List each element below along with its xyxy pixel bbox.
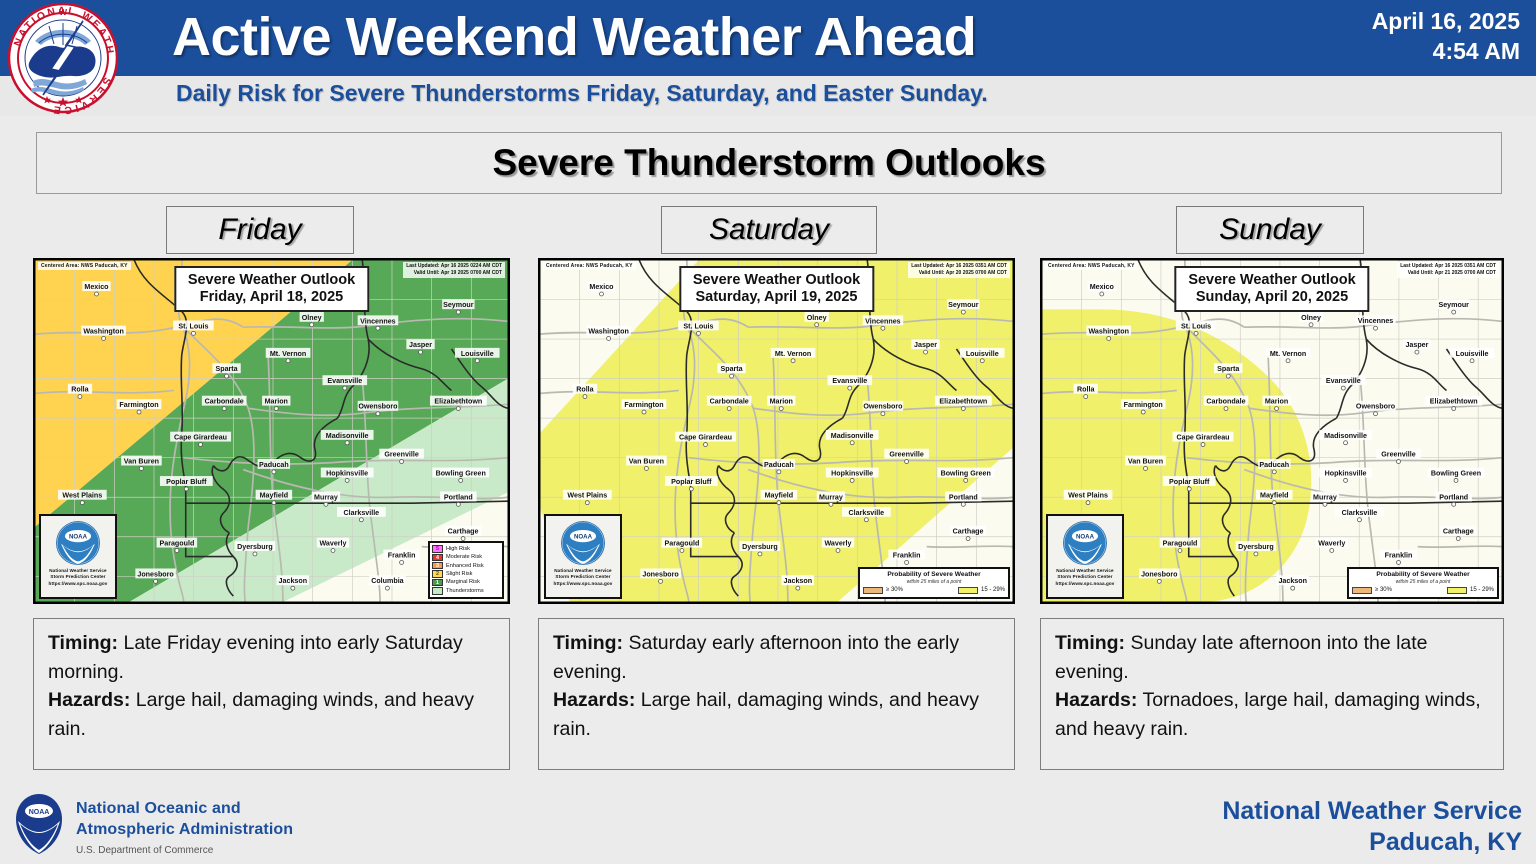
map-city-label: Mayfield xyxy=(260,492,288,500)
timing-line: Timing: Sunday late afternoon into the l… xyxy=(1055,629,1491,686)
map-city-label: Madisonville xyxy=(831,432,874,440)
map-city-label: Rolla xyxy=(71,386,88,394)
outlook-panel-sunday: MexicoWashingtonSt. LouisOlneyVincennesS… xyxy=(1040,258,1504,604)
map-city-dot xyxy=(78,395,82,399)
map-update-info: Last Updated: Apr 16 2025 0224 AM CDT Va… xyxy=(403,262,505,278)
map-city-dot xyxy=(848,386,852,390)
map-city-dot xyxy=(137,410,141,414)
map-city-dot xyxy=(924,350,928,354)
risk-legend-swatch: 5 xyxy=(432,545,443,552)
map-city-label: Paragould xyxy=(159,540,194,548)
map-city-dot xyxy=(286,359,290,363)
map-city-label: Louisville xyxy=(461,350,494,358)
map-city-dot xyxy=(1254,552,1258,556)
map-city-dot xyxy=(1178,549,1182,553)
map-city-dot xyxy=(272,470,276,474)
svg-text:NOAA: NOAA xyxy=(574,533,593,540)
map-city-label: Waverly xyxy=(319,540,346,548)
section-title-box: Severe Thunderstorm Outlooks xyxy=(36,132,1502,194)
map-city-dot xyxy=(1107,337,1111,341)
risk-legend-swatch: 4 xyxy=(432,554,443,561)
risk-legend-row: 1Marginal Risk xyxy=(432,578,500,586)
map-city-dot xyxy=(758,552,762,556)
map-city-dot xyxy=(102,337,106,341)
map-city-dot xyxy=(850,441,854,445)
map-title-box: Severe Weather Outlook Sunday, April 20,… xyxy=(1174,266,1369,312)
map-city-dot xyxy=(1201,443,1205,447)
map-city-label: Murray xyxy=(819,493,843,501)
map-city-dot xyxy=(727,407,731,411)
map-city-label: Evansville xyxy=(1326,377,1361,385)
timing-label: Timing: xyxy=(1055,632,1125,654)
map-city-dot xyxy=(1291,586,1295,590)
map-city-label: Washington xyxy=(83,328,123,336)
map-city-dot xyxy=(139,466,143,470)
map-city-label: Jonesboro xyxy=(1141,570,1178,578)
map-city-dot xyxy=(850,478,854,482)
map-city-label: Greenville xyxy=(889,451,923,459)
map-city-label: Olney xyxy=(807,314,827,322)
map-city-dot xyxy=(400,560,404,564)
map-city-label: Van Buren xyxy=(124,458,159,466)
map-city-label: Washington xyxy=(1088,328,1128,336)
footer-line1: National Oceanic and xyxy=(76,798,293,819)
hazards-line: Hazards: Large hail, damaging winds, and… xyxy=(553,686,1002,743)
risk-legend-label: Slight Risk xyxy=(446,571,472,577)
map-city-label: St. Louis xyxy=(1181,322,1211,330)
day-tab-saturday[interactable]: Saturday xyxy=(661,206,877,254)
map-city-dot xyxy=(1144,466,1148,470)
map-city-dot xyxy=(1141,410,1145,414)
map-city-dot xyxy=(1194,331,1198,335)
map-city-label: Franklin xyxy=(388,552,416,560)
probability-legend-label: ≥ 30% xyxy=(886,587,903,593)
hazards-label: Hazards: xyxy=(553,689,635,711)
map-city-label: Jasper xyxy=(409,341,432,349)
footer-noaa-text: National Oceanic and Atmospheric Adminis… xyxy=(76,798,293,859)
noaa-credit-line2: Storm Prediction Center xyxy=(49,574,108,580)
map-city-label: Dyersburg xyxy=(1238,543,1274,551)
nws-seal-icon: W NATIONAL WEATHER SERVICE xyxy=(5,1,121,115)
map-valid-until: Valid Until: Apr 19 2025 0700 AM CDT xyxy=(406,270,502,277)
map-city-dot xyxy=(961,310,965,314)
map-city-dot xyxy=(1323,502,1327,506)
map-city-label: Hopkinsville xyxy=(831,469,873,477)
map-city-label: Paducah xyxy=(259,461,289,469)
noaa-logo-icon: NOAA xyxy=(10,793,68,855)
map-city-label: Owensboro xyxy=(358,403,398,411)
map-city-dot xyxy=(222,407,226,411)
hazards-line: Hazards: Large hail, damaging winds, and… xyxy=(48,686,497,743)
map-city-dot xyxy=(881,412,885,416)
header-time: 4:54 AM xyxy=(1260,36,1520,66)
probability-legend-swatch xyxy=(958,587,978,595)
map-city-label: Elizabethtown xyxy=(1430,398,1478,406)
map-city-label: Washington xyxy=(588,328,628,336)
header-date: April 16, 2025 xyxy=(1260,6,1520,36)
map-city-label: Jackson xyxy=(784,577,813,585)
map-city-label: West Plains xyxy=(567,492,607,500)
map-city-dot xyxy=(796,586,800,590)
map-city-dot xyxy=(1272,470,1276,474)
map-city-label: Vincennes xyxy=(1358,317,1394,325)
map-city-dot xyxy=(864,518,868,522)
map-city-label: Portland xyxy=(949,493,978,501)
map-city-label: Cape Girardeau xyxy=(174,434,227,442)
map-city-dot xyxy=(961,502,965,506)
info-box-friday: Timing: Late Friday evening into early S… xyxy=(33,618,510,770)
map-city-label: Louisville xyxy=(1456,350,1489,358)
timing-line: Timing: Late Friday evening into early S… xyxy=(48,629,497,686)
noaa-logo-icon: NOAA xyxy=(560,520,606,566)
map-city-label: Poplar Bluff xyxy=(671,478,712,486)
map-city-label: Farmington xyxy=(119,401,158,409)
map-city-label: Jackson xyxy=(1278,577,1307,585)
map-city-label: Sparta xyxy=(215,365,237,373)
map-city-dot xyxy=(1157,579,1161,583)
map-city-label: Madisonville xyxy=(1324,432,1367,440)
map-city-dot xyxy=(791,359,795,363)
map-city-dot xyxy=(1224,407,1228,411)
risk-legend-row: 2Slight Risk xyxy=(432,570,500,578)
map-city-dot xyxy=(199,443,203,447)
map-city-label: Bowling Green xyxy=(941,469,991,477)
footer-line3: U.S. Department of Commerce xyxy=(76,843,293,859)
map-city-label: Carbondale xyxy=(710,398,749,406)
map-city-dot xyxy=(1286,359,1290,363)
map-city-label: Jonesboro xyxy=(137,570,174,578)
map-city-dot xyxy=(1452,310,1456,314)
map-valid-until: Valid Until: Apr 21 2025 0700 AM CDT xyxy=(1400,270,1496,277)
map-city-dot xyxy=(696,331,700,335)
map-city-dot xyxy=(80,501,84,505)
risk-legend-label: Marginal Risk xyxy=(446,579,480,585)
map-city-label: Evansville xyxy=(832,377,867,385)
map-city-dot xyxy=(456,310,460,314)
probability-legend-swatch xyxy=(1447,587,1467,595)
risk-legend-row: 4Moderate Risk xyxy=(432,553,500,561)
map-city-dot xyxy=(1454,478,1458,482)
map-city-dot xyxy=(385,586,389,590)
risk-legend-row: 3Enhanced Risk xyxy=(432,561,500,569)
map-update-info: Last Updated: Apr 16 2025 0351 AM CDT Va… xyxy=(1397,262,1499,278)
map-city-label: Rolla xyxy=(1077,386,1094,394)
map-city-label: Carbondale xyxy=(205,398,244,406)
outlook-map-sunday[interactable]: MexicoWashingtonSt. LouisOlneyVincennesS… xyxy=(1040,258,1504,604)
map-city-dot xyxy=(184,487,188,491)
map-city-label: Paragould xyxy=(1163,540,1198,548)
map-city-dot xyxy=(456,407,460,411)
footer-line2: Atmospheric Administration xyxy=(76,819,293,840)
map-city-label: Owensboro xyxy=(863,403,903,411)
map-city-label: Poplar Bluff xyxy=(166,478,207,486)
outlook-panel-friday: MexicoWashingtonSt. LouisOlneyVincennesS… xyxy=(33,258,510,604)
map-city-dot xyxy=(1275,407,1279,411)
info-box-saturday: Timing: Saturday early afternoon into th… xyxy=(538,618,1015,770)
risk-legend-row: Thunderstorms xyxy=(432,587,500,595)
map-city-label: Van Buren xyxy=(1128,458,1163,466)
map-city-dot xyxy=(599,292,603,296)
hazards-label: Hazards: xyxy=(1055,689,1137,711)
probability-legend-item: 15 - 29% xyxy=(958,587,1005,595)
footer-office-name: National Weather Service xyxy=(1222,796,1522,827)
map-city-label: Seymour xyxy=(948,301,979,309)
page-subtitle: Daily Risk for Severe Thunderstorms Frid… xyxy=(176,80,988,107)
map-city-label: Olney xyxy=(1301,314,1321,322)
map-city-label: Murray xyxy=(314,493,338,501)
map-city-label: Cape Girardeau xyxy=(1176,434,1229,442)
map-city-label: Cape Girardeau xyxy=(679,434,732,442)
map-city-dot xyxy=(154,579,158,583)
map-city-label: Mayfield xyxy=(1260,492,1288,500)
probability-legend-item: ≥ 30% xyxy=(1352,587,1392,595)
map-city-label: Farmington xyxy=(1124,401,1163,409)
risk-legend-swatch xyxy=(432,587,443,594)
map-city-label: Portland xyxy=(1439,493,1468,501)
risk-legend-label: Thunderstorms xyxy=(446,588,484,594)
map-city-label: St. Louis xyxy=(683,322,713,330)
svg-text:NOAA: NOAA xyxy=(69,533,88,540)
map-city-label: Franklin xyxy=(893,552,921,560)
map-city-dot xyxy=(659,579,663,583)
map-city-dot xyxy=(1357,518,1361,522)
risk-legend-swatch: 3 xyxy=(432,562,443,569)
map-city-dot xyxy=(272,501,276,505)
map-city-label: Waverly xyxy=(824,540,851,548)
footer-office-location: Paducah, KY xyxy=(1222,827,1522,858)
map-city-label: Jonesboro xyxy=(642,570,679,578)
map-last-updated: Last Updated: Apr 16 2025 0224 AM CDT xyxy=(406,263,502,270)
map-city-dot xyxy=(1452,407,1456,411)
page-title: Active Weekend Weather Ahead xyxy=(172,6,976,68)
risk-legend-swatch: 1 xyxy=(432,579,443,586)
map-city-label: Mt. Vernon xyxy=(1270,350,1306,358)
day-tab-sunday[interactable]: Sunday xyxy=(1176,206,1364,254)
risk-legend-row: 5High Risk xyxy=(432,545,500,553)
map-city-label: Sparta xyxy=(1217,365,1239,373)
map-city-dot xyxy=(644,466,648,470)
map-city-label: Carbondale xyxy=(1206,398,1245,406)
timing-line: Timing: Saturday early afternoon into th… xyxy=(553,629,1002,686)
risk-legend-swatch: 2 xyxy=(432,570,443,577)
map-city-label: Louisville xyxy=(966,350,999,358)
map-city-dot xyxy=(1309,323,1313,327)
map-city-dot xyxy=(359,518,363,522)
probability-legend-subtitle: within 25 miles of a point xyxy=(863,579,1005,586)
map-city-dot xyxy=(475,359,479,363)
map-title-box: Severe Weather Outlook Saturday, April 1… xyxy=(679,266,874,312)
map-city-label: Farmington xyxy=(624,401,663,409)
map-city-label: Carthage xyxy=(448,528,479,536)
noaa-spc-credit-box: NOAA National Weather Service Storm Pred… xyxy=(1046,514,1124,599)
svg-text:NOAA: NOAA xyxy=(1076,533,1095,540)
noaa-spc-credit-box: NOAA National Weather Service Storm Pred… xyxy=(39,514,117,599)
risk-legend-label: Moderate Risk xyxy=(446,554,482,560)
map-city-dot xyxy=(1374,326,1378,330)
map-city-label: Sparta xyxy=(720,365,742,373)
map-city-dot xyxy=(1086,501,1090,505)
probability-legend-title: Probability of Severe Weather xyxy=(1352,571,1494,579)
map-city-dot xyxy=(1415,350,1419,354)
probability-legend-item: 15 - 29% xyxy=(1447,587,1494,595)
map-title-line1: Severe Weather Outlook xyxy=(188,272,355,289)
noaa-logo-icon: NOAA xyxy=(55,520,101,566)
day-tab-friday[interactable]: Friday xyxy=(166,206,354,254)
map-last-updated: Last Updated: Apr 16 2025 0351 AM CDT xyxy=(911,263,1007,270)
map-city-dot xyxy=(829,502,833,506)
map-city-label: Clarksville xyxy=(344,509,380,517)
map-city-dot xyxy=(400,460,404,464)
map-city-dot xyxy=(777,470,781,474)
map-city-dot xyxy=(964,478,968,482)
hazards-label: Hazards: xyxy=(48,689,130,711)
map-city-dot xyxy=(310,323,314,327)
probability-legend-rows: ≥ 30%15 - 29% xyxy=(1352,587,1494,595)
map-city-dot xyxy=(191,331,195,335)
map-city-dot xyxy=(585,501,589,505)
day-tab-label: Saturday xyxy=(709,213,829,247)
map-city-label: Jasper xyxy=(1405,341,1428,349)
map-city-label: Marion xyxy=(770,398,793,406)
map-city-dot xyxy=(1344,441,1348,445)
map-city-label: Bowling Green xyxy=(1431,469,1481,477)
probability-legend-item: ≥ 30% xyxy=(863,587,903,595)
noaa-credit-line3: https://www.spc.noaa.gov xyxy=(1056,581,1115,587)
map-city-dot xyxy=(345,478,349,482)
timing-label: Timing: xyxy=(553,632,623,654)
map-city-dot xyxy=(1397,460,1401,464)
map-city-label: Van Buren xyxy=(629,458,664,466)
map-title-line1: Severe Weather Outlook xyxy=(693,272,860,289)
map-city-label: Vincennes xyxy=(865,317,901,325)
map-city-label: Marion xyxy=(1265,398,1288,406)
map-city-dot xyxy=(1344,478,1348,482)
map-city-dot xyxy=(1272,501,1276,505)
map-city-dot xyxy=(376,412,380,416)
map-city-dot xyxy=(1470,359,1474,363)
noaa-credit-line2: Storm Prediction Center xyxy=(554,574,613,580)
map-city-label: Jasper xyxy=(914,341,937,349)
map-city-dot xyxy=(1456,537,1460,541)
map-city-dot xyxy=(777,501,781,505)
noaa-spc-credit-box: NOAA National Weather Service Storm Pred… xyxy=(544,514,622,599)
map-city-dot xyxy=(331,549,335,553)
map-city-dot xyxy=(274,407,278,411)
map-city-label: Olney xyxy=(302,314,322,322)
map-city-label: St. Louis xyxy=(178,322,208,330)
day-tab-label: Sunday xyxy=(1219,213,1321,247)
categorical-risk-legend: 5High Risk4Moderate Risk3Enhanced Risk2S… xyxy=(428,541,504,599)
map-city-dot xyxy=(345,441,349,445)
probability-legend: Probability of Severe Weather within 25 … xyxy=(1347,567,1499,600)
risk-legend-label: Enhanced Risk xyxy=(446,563,484,569)
map-city-dot xyxy=(456,502,460,506)
probability-legend-swatch xyxy=(1352,587,1372,595)
map-city-label: Dyersburg xyxy=(237,543,273,551)
map-city-label: Hopkinsville xyxy=(1325,469,1367,477)
map-city-dot xyxy=(343,386,347,390)
map-city-label: Waverly xyxy=(1318,540,1345,548)
map-city-dot xyxy=(94,292,98,296)
map-city-dot xyxy=(253,552,257,556)
map-city-dot xyxy=(905,460,909,464)
map-title-line2: Saturday, April 19, 2025 xyxy=(693,289,860,306)
map-city-label: Vincennes xyxy=(360,317,396,325)
map-city-label: Evansville xyxy=(327,377,362,385)
map-city-label: Mexico xyxy=(589,283,614,291)
map-city-dot xyxy=(730,374,734,378)
probability-legend-rows: ≥ 30%15 - 29% xyxy=(863,587,1005,595)
map-city-dot xyxy=(980,359,984,363)
map-title-line1: Severe Weather Outlook xyxy=(1188,272,1355,289)
probability-legend-label: 15 - 29% xyxy=(1470,587,1494,593)
map-city-dot xyxy=(836,549,840,553)
map-city-dot xyxy=(779,407,783,411)
map-city-label: Greenville xyxy=(384,451,418,459)
map-city-label: Clarksville xyxy=(1342,509,1378,517)
map-city-dot xyxy=(905,560,909,564)
map-last-updated: Last Updated: Apr 16 2025 0351 AM CDT xyxy=(1400,263,1496,270)
map-city-label: Owensboro xyxy=(1356,403,1396,411)
map-city-dot xyxy=(966,537,970,541)
header-datetime: April 16, 2025 4:54 AM xyxy=(1260,6,1520,66)
map-city-label: Carthage xyxy=(1443,528,1474,536)
map-city-label: Poplar Bluff xyxy=(1169,478,1210,486)
map-centered-area: Centered Area: NWS Paducah, KY xyxy=(1045,262,1138,270)
outlook-map-saturday[interactable]: MexicoWashingtonSt. LouisOlneyVincennesS… xyxy=(538,258,1015,604)
map-city-label: Madisonville xyxy=(326,432,369,440)
map-city-dot xyxy=(815,323,819,327)
map-city-dot xyxy=(642,410,646,414)
hazards-line: Hazards: Tornadoes, large hail, damaging… xyxy=(1055,686,1491,743)
map-city-label: Greenville xyxy=(1381,451,1415,459)
outlook-panel-saturday: MexicoWashingtonSt. LouisOlneyVincennesS… xyxy=(538,258,1015,604)
map-title-line2: Friday, April 18, 2025 xyxy=(188,289,355,306)
map-city-label: Bowling Green xyxy=(436,469,486,477)
footer-office: National Weather Service Paducah, KY xyxy=(1222,796,1522,858)
map-city-label: Seymour xyxy=(1438,301,1469,309)
map-city-dot xyxy=(961,407,965,411)
map-city-dot xyxy=(225,374,229,378)
svg-text:NOAA: NOAA xyxy=(29,809,50,816)
outlook-map-friday[interactable]: MexicoWashingtonSt. LouisOlneyVincennesS… xyxy=(33,258,510,604)
map-city-label: Carthage xyxy=(953,528,984,536)
map-city-dot xyxy=(680,549,684,553)
map-city-dot xyxy=(704,443,708,447)
map-title-line2: Sunday, April 20, 2025 xyxy=(1188,289,1355,306)
probability-legend-label: 15 - 29% xyxy=(981,587,1005,593)
map-update-info: Last Updated: Apr 16 2025 0351 AM CDT Va… xyxy=(908,262,1010,278)
map-city-label: Paducah xyxy=(1259,461,1289,469)
map-city-dot xyxy=(459,478,463,482)
probability-legend: Probability of Severe Weather within 25 … xyxy=(858,567,1010,600)
noaa-logo-icon: NOAA xyxy=(1062,520,1108,566)
map-city-label: Clarksville xyxy=(849,509,885,517)
map-city-dot xyxy=(881,326,885,330)
day-tab-label: Friday xyxy=(218,213,301,247)
map-city-label: Mexico xyxy=(1090,283,1115,291)
map-city-label: Rolla xyxy=(576,386,593,394)
map-city-dot xyxy=(1084,395,1088,399)
risk-legend-label: High Risk xyxy=(446,546,470,552)
map-city-label: West Plains xyxy=(62,492,102,500)
noaa-credit-line2: Storm Prediction Center xyxy=(1056,574,1115,580)
map-centered-area: Centered Area: NWS Paducah, KY xyxy=(543,262,636,270)
map-city-dot xyxy=(1226,374,1230,378)
map-city-dot xyxy=(1100,292,1104,296)
map-centered-area: Centered Area: NWS Paducah, KY xyxy=(38,262,131,270)
map-city-label: Hopkinsville xyxy=(326,469,368,477)
